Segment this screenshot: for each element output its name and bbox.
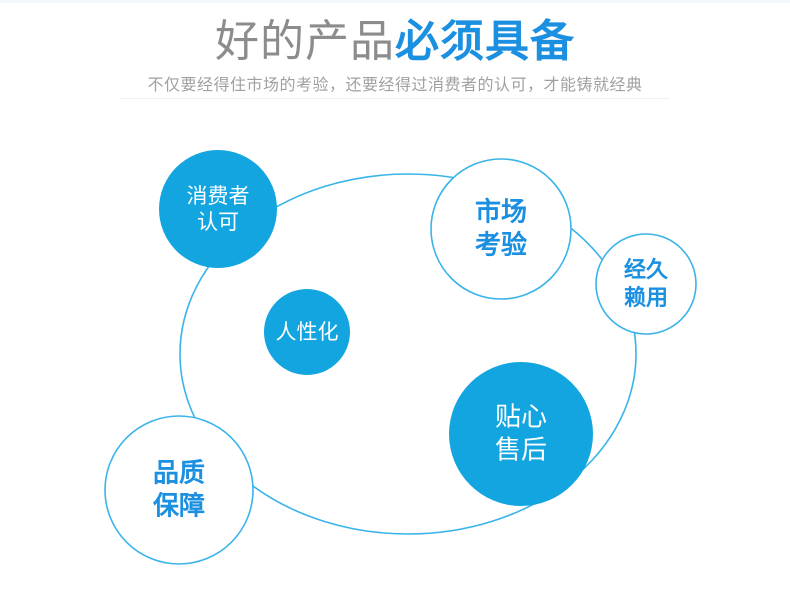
bubble-long-lasting[interactable]: 经久赖用	[596, 234, 696, 334]
page-header: 好的产品必须具备 不仅要经得住市场的考验，还要经得过消费者的认可，才能铸就经典	[0, 3, 790, 96]
page-title-blue-part: 必须具备	[395, 16, 575, 67]
bubble-quality-guarantee-label-line-0: 品质	[153, 459, 205, 489]
bubble-quality-guarantee[interactable]: 品质保障	[105, 416, 253, 564]
bubble-after-sales-label-line-0: 贴心	[495, 403, 547, 433]
bubble-consumer-approval-circle	[159, 150, 277, 268]
bubble-diagram: 消费者认可市场考验经久赖用人性化贴心售后品质保障	[0, 98, 790, 614]
page-title: 好的产品必须具备	[0, 3, 790, 68]
bubble-after-sales-label-line-1: 售后	[495, 436, 547, 466]
page-subtitle: 不仅要经得住市场的考验，还要经得过消费者的认可，才能铸就经典	[0, 68, 790, 96]
bubble-quality-guarantee-label-line-1: 保障	[152, 491, 205, 522]
bubble-after-sales-circle	[449, 362, 593, 506]
bubble-consumer-approval-label-line-1: 认可	[197, 210, 239, 234]
bubble-market-test-circle	[431, 159, 571, 299]
bubble-long-lasting-label-line-0: 经久	[624, 257, 668, 283]
bubble-humanized-label-line-0: 人性化	[276, 320, 339, 344]
page-title-gray-part: 好的产品	[215, 16, 395, 67]
bubble-after-sales[interactable]: 贴心售后	[449, 362, 593, 506]
bubble-consumer-approval-label-line-0: 消费者	[187, 184, 250, 208]
bubble-consumer-approval[interactable]: 消费者认可	[159, 150, 277, 268]
bubble-long-lasting-label-line-1: 赖用	[624, 285, 668, 311]
bubble-market-test-label-line-0: 市场	[475, 197, 527, 228]
bubble-market-test-label-line-1: 考验	[475, 230, 527, 261]
bubble-quality-guarantee-circle	[105, 416, 253, 564]
bubble-diagram-canvas: 消费者认可市场考验经久赖用人性化贴心售后品质保障	[0, 98, 790, 614]
bubble-market-test[interactable]: 市场考验	[431, 159, 571, 299]
bubble-long-lasting-circle	[596, 234, 696, 334]
bubble-group: 消费者认可市场考验经久赖用人性化贴心售后品质保障	[105, 150, 696, 564]
bubble-humanized[interactable]: 人性化	[264, 289, 350, 375]
bubble-humanized-label: 人性化	[276, 320, 339, 344]
